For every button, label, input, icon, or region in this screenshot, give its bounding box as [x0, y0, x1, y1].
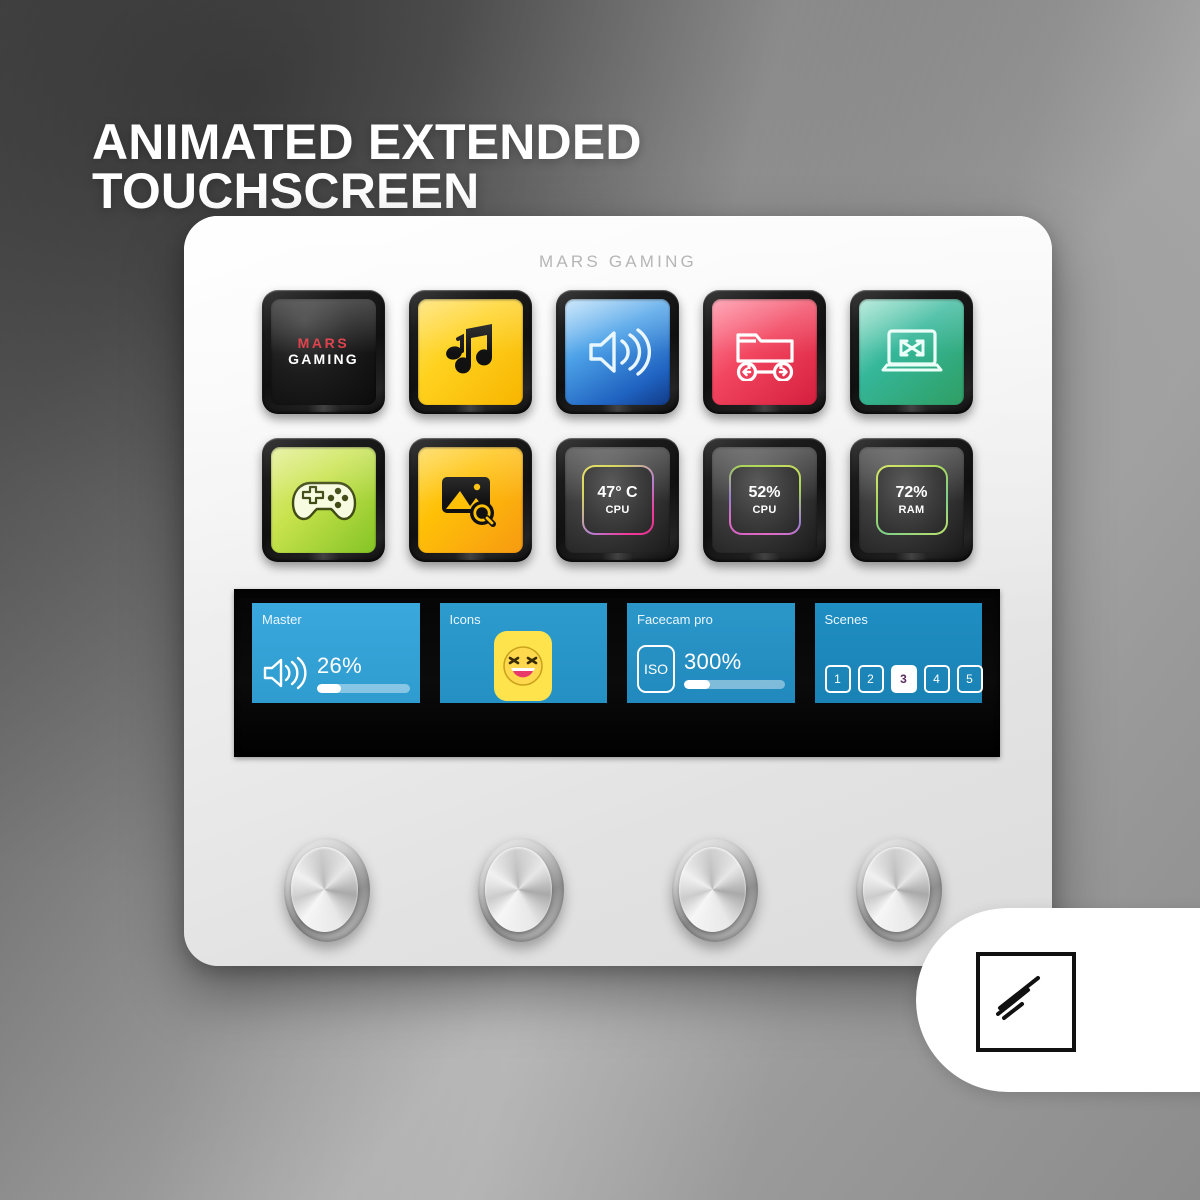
panel-icons[interactable]: Icons: [440, 603, 608, 703]
panel-title: Icons: [450, 612, 598, 627]
panel-title: Scenes: [825, 612, 973, 627]
progress-fill: [317, 684, 341, 693]
facecam-value: 300%: [684, 649, 785, 675]
touchscreen-panels: Master 26%: [234, 589, 1000, 703]
iso-badge-icon: ISO: [637, 645, 675, 693]
music-notes-icon: [440, 323, 502, 381]
folder-transfer-icon: [732, 323, 798, 381]
knob-cap: [485, 847, 552, 932]
panel-facecam[interactable]: Facecam pro ISO 300%: [627, 603, 795, 703]
key-face: [271, 447, 376, 553]
key-face: [418, 299, 523, 405]
scene-button-5[interactable]: 5: [957, 665, 983, 693]
scene-buttons: 1 2 3 4 5: [825, 665, 983, 693]
key-screen-expand[interactable]: [850, 290, 973, 414]
key-face: [712, 299, 817, 405]
key-file-transfer[interactable]: [703, 290, 826, 414]
key-face: [418, 447, 523, 553]
headline-line-1: ANIMATED EXTENDED: [92, 118, 852, 167]
corner-badge: [916, 908, 1200, 1092]
knob-cap: [679, 847, 746, 932]
key-cpu-temp[interactable]: 47° C CPU: [556, 438, 679, 562]
key-row-2: 47° C CPU 52% CPU: [262, 438, 974, 562]
scene-button-3[interactable]: 3: [891, 665, 917, 693]
knob-3[interactable]: [672, 838, 758, 942]
key-music[interactable]: [409, 290, 532, 414]
stat-inner: 52% CPU: [731, 467, 799, 533]
laughing-emoji-icon: [500, 643, 546, 689]
stat-label: RAM: [899, 504, 925, 516]
key-face: [859, 299, 964, 405]
product-hero-image: ANIMATED EXTENDED TOUCHSCREEN MARS GAMIN…: [0, 0, 1200, 1200]
knob-1[interactable]: [284, 838, 370, 942]
panel-title: Facecam pro: [637, 612, 785, 627]
stat-inner: 72% RAM: [878, 467, 946, 533]
stat-label: CPU: [605, 504, 629, 516]
key-gamepad[interactable]: [262, 438, 385, 562]
progress-fill: [684, 680, 710, 689]
touchscreen-strip: Master 26%: [234, 589, 1000, 757]
stat-label: CPU: [752, 504, 776, 516]
stat-value: 47° C: [597, 484, 637, 502]
scene-button-4[interactable]: 4: [924, 665, 950, 693]
knob-cap: [863, 847, 930, 932]
key-image-search[interactable]: [409, 438, 532, 562]
key-face: 47° C CPU: [565, 447, 670, 553]
stat-inner: 47° C CPU: [584, 467, 652, 533]
key-face: [565, 299, 670, 405]
stat-value: 72%: [895, 484, 927, 502]
image-search-icon: [438, 471, 504, 529]
headline-line-2: TOUCHSCREEN: [92, 167, 852, 216]
speaker-waves-icon: [585, 326, 651, 378]
glass-shine-square-icon: [976, 952, 1076, 1052]
laptop-expand-icon: [879, 324, 945, 380]
facecam-progress-bar[interactable]: [684, 680, 785, 689]
knob-cap: [291, 847, 358, 932]
key-ram-load[interactable]: 72% RAM: [850, 438, 973, 562]
key-cpu-load[interactable]: 52% CPU: [703, 438, 826, 562]
knob-2[interactable]: [478, 838, 564, 942]
page-title: ANIMATED EXTENDED TOUCHSCREEN: [92, 118, 852, 216]
panel-body: ISO 300%: [637, 645, 785, 693]
master-value: 26%: [317, 653, 410, 679]
panel-scenes[interactable]: Scenes 1 2 3 4 5: [815, 603, 983, 703]
panel-body: 26%: [262, 653, 410, 693]
key-face: 52% CPU: [712, 447, 817, 553]
key-volume[interactable]: [556, 290, 679, 414]
mars-gaming-logo-icon: MARS GAMING: [288, 336, 359, 367]
knob-4[interactable]: [856, 838, 942, 942]
gamepad-icon: [289, 475, 359, 525]
panel-body: 1 2 3 4 5: [825, 665, 973, 693]
key-face: MARS GAMING: [271, 299, 376, 405]
panel-master[interactable]: Master 26%: [252, 603, 420, 703]
scene-button-2[interactable]: 2: [858, 665, 884, 693]
stat-ring: 72% RAM: [876, 465, 948, 535]
knob-row: [184, 838, 1052, 958]
emoji-tile[interactable]: [494, 631, 552, 701]
stat-ring: 52% CPU: [729, 465, 801, 535]
brand-logo: MARS GAMING: [184, 252, 1052, 272]
key-row-1: MARS GAMING: [262, 290, 974, 414]
key-face: 72% RAM: [859, 447, 964, 553]
speaker-waves-icon: [262, 656, 308, 690]
stat-value: 52%: [748, 484, 780, 502]
panel-title: Master: [262, 612, 410, 627]
master-progress-bar[interactable]: [317, 684, 410, 693]
stat-ring: 47° C CPU: [582, 465, 654, 535]
key-mars-logo[interactable]: MARS GAMING: [262, 290, 385, 414]
shine-lines-icon: [980, 956, 1064, 1040]
stream-deck-device: MARS GAMING MARS GAMING: [184, 216, 1052, 966]
key-grid: MARS GAMING: [262, 290, 974, 586]
scene-button-1[interactable]: 1: [825, 665, 851, 693]
